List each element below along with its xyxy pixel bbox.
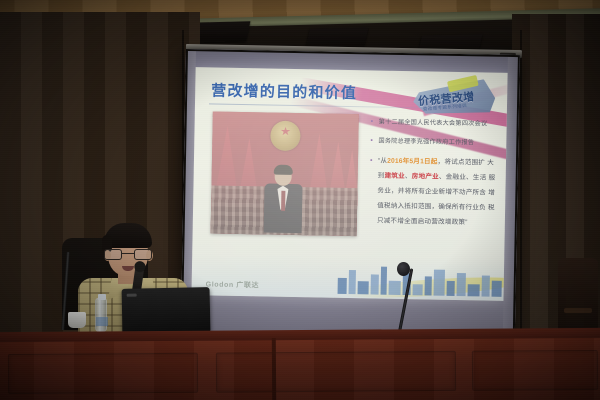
desk-panel (8, 353, 198, 394)
slide-logo: Glodon 广联达 (206, 279, 260, 290)
quote-highlight-1: 建筑业 (384, 173, 405, 180)
conference-room-scene: 营改增的目的和价值 价税营改增 营改增专题系列培训 (0, 0, 600, 400)
city-building (358, 281, 369, 294)
presenter-glasses (104, 249, 152, 260)
bullet-item: 国务院总理李克强作政府工作报告 (370, 135, 498, 149)
city-building (492, 281, 502, 297)
city-building (457, 273, 466, 296)
quote-after-date: ，将试点范围扩 (437, 159, 485, 167)
city-building (338, 278, 347, 294)
paper-cup (68, 312, 86, 328)
glasses-lens-right (134, 249, 152, 260)
quote-highlight-2: 房地产业 (412, 173, 439, 180)
slide-brand-badge: 价税营改增 营改增专题系列培训 (412, 78, 497, 119)
city-building (425, 276, 432, 295)
glasses-bridge (122, 253, 134, 254)
slide-bullet-list: 第十二届全国人民代表大会第四次会议 国务院总理李克强作政府工作报告 “从2016… (369, 116, 499, 238)
quote-lead: “从 (378, 158, 387, 165)
bottle-label (96, 317, 108, 326)
slide-title: 营改增的目的和价值 (211, 79, 357, 103)
bullet-item: 第十二届全国人民代表大会第四次会议 (371, 116, 499, 130)
presenter-hair (104, 223, 152, 248)
laptop (122, 287, 211, 333)
city-building (482, 275, 490, 296)
slide-city-graphic (191, 253, 504, 301)
presentation-slide: 营改增的目的和价值 价税营改增 营改增专题系列培训 (191, 67, 507, 301)
projection-screen: 营改增的目的和价值 价税营改增 营改增专题系列培训 (181, 49, 520, 341)
desk-front (0, 338, 600, 400)
water-bottle (95, 298, 107, 332)
bullet-item-quote: “从2016年5月1日起，将试点范围扩 大到建筑业、房地产业、金融业、生活 服务… (369, 155, 498, 231)
city-building (349, 270, 356, 294)
city-building (371, 274, 379, 294)
photo-projection-wash (211, 112, 359, 237)
gooseneck-microphone-head (397, 262, 410, 276)
desk-divider (272, 338, 276, 400)
quote-date: 2016年5月1日起 (387, 158, 438, 166)
bottle-cap (98, 294, 106, 300)
slide-photo (211, 112, 359, 237)
city-building (413, 284, 423, 295)
microphone-head (134, 260, 146, 272)
city-building (468, 284, 480, 296)
city-building (389, 281, 401, 295)
city-building (381, 267, 388, 295)
wall-seam (520, 30, 522, 336)
wooden-chair-right (558, 258, 598, 336)
desk-panel (472, 350, 598, 391)
city-building (434, 270, 445, 296)
city-building (447, 281, 455, 296)
laptop-logo (127, 294, 137, 297)
quote-line2-post: 、金融业、生活 (439, 174, 487, 182)
glasses-lens-left (104, 249, 122, 260)
desk-panel (216, 351, 456, 393)
